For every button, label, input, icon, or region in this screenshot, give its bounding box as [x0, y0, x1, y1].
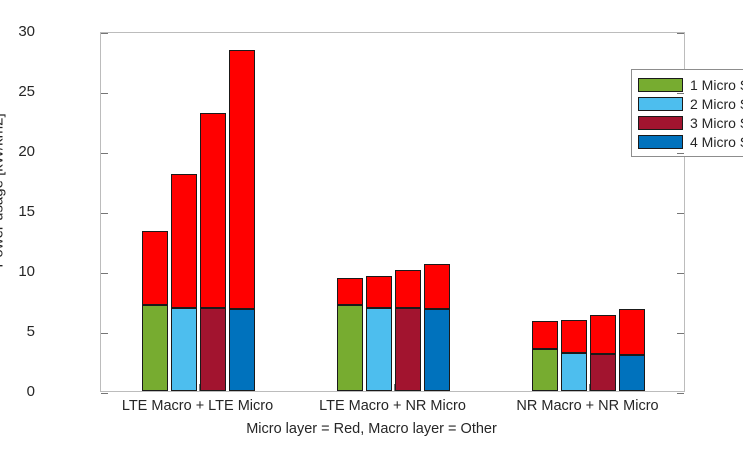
- y-axis-tick-right: [677, 33, 684, 34]
- bar-segment-micro[interactable]: [337, 278, 363, 304]
- bar-segment-micro[interactable]: [424, 264, 450, 310]
- legend-swatch-3: [638, 116, 683, 130]
- y-axis-tick-right: [677, 93, 684, 94]
- legend-item[interactable]: 3 Micro SU: [638, 113, 743, 132]
- legend-label-1: 1 Micro SU: [690, 78, 743, 92]
- bar-segment-micro[interactable]: [590, 315, 616, 353]
- bar-segment-macro[interactable]: [337, 305, 363, 391]
- y-axis-tick-label: 20: [0, 144, 35, 159]
- legend-swatch-1: [638, 78, 683, 92]
- bar-segment-micro[interactable]: [561, 320, 587, 352]
- bar-stack[interactable]: [142, 231, 168, 391]
- bar-segment-macro[interactable]: [590, 354, 616, 391]
- bar-stack[interactable]: [395, 270, 421, 391]
- y-axis-tick-right: [677, 393, 684, 394]
- y-axis-tick-label: 15: [0, 204, 35, 219]
- bar-segment-macro[interactable]: [532, 349, 558, 391]
- bar-segment-micro[interactable]: [142, 231, 168, 304]
- bar-stack[interactable]: [619, 309, 645, 391]
- y-axis-tick-right: [677, 333, 684, 334]
- y-axis-label: Power usage [kW/km2]: [0, 0, 7, 401]
- y-axis-tick-label: 25: [0, 84, 35, 99]
- legend-label-2: 2 Micro SU: [690, 97, 743, 111]
- chart-legend: 1 Micro SU 2 Micro SU 3 Micro SU 4 Micro…: [631, 69, 743, 157]
- y-axis-tick-label: 30: [0, 24, 35, 39]
- y-axis-tick: [101, 333, 108, 334]
- y-axis-tick: [101, 153, 108, 154]
- legend-label-3: 3 Micro SU: [690, 116, 743, 130]
- bar-segment-macro[interactable]: [171, 308, 197, 391]
- bar-segment-macro[interactable]: [561, 353, 587, 391]
- legend-swatch-2: [638, 97, 683, 111]
- bar-stack[interactable]: [229, 50, 255, 391]
- plot-area: 1 Micro SU 2 Micro SU 3 Micro SU 4 Micro…: [100, 32, 685, 392]
- bar-segment-micro[interactable]: [366, 276, 392, 308]
- bar-segment-micro[interactable]: [171, 174, 197, 308]
- bar-segment-macro[interactable]: [424, 309, 450, 391]
- bar-segment-macro[interactable]: [200, 308, 226, 391]
- legend-item[interactable]: 4 Micro SU: [638, 132, 743, 151]
- bar-segment-micro[interactable]: [200, 113, 226, 309]
- y-axis-tick-right: [677, 273, 684, 274]
- bar-segment-micro[interactable]: [532, 321, 558, 349]
- y-axis-tick-label: 10: [0, 264, 35, 279]
- y-axis-tick-label: 5: [0, 324, 35, 339]
- legend-item[interactable]: 1 Micro SU: [638, 75, 743, 94]
- bar-stack[interactable]: [561, 320, 587, 391]
- y-axis-tick: [101, 213, 108, 214]
- bar-stack[interactable]: [171, 174, 197, 391]
- x-axis-label: Micro layer = Red, Macro layer = Other: [0, 421, 743, 437]
- y-axis-tick-right: [677, 153, 684, 154]
- bar-stack[interactable]: [337, 278, 363, 391]
- y-axis-tick-right: [677, 213, 684, 214]
- x-axis-tick-label: NR Macro + NR Micro: [516, 398, 658, 414]
- bar-segment-macro[interactable]: [229, 309, 255, 391]
- bar-segment-macro[interactable]: [395, 308, 421, 391]
- y-axis-tick: [101, 393, 108, 394]
- y-axis-tick: [101, 93, 108, 94]
- y-axis-tick: [101, 273, 108, 274]
- bar-segment-macro[interactable]: [142, 305, 168, 391]
- legend-swatch-4: [638, 135, 683, 149]
- bar-segment-micro[interactable]: [395, 270, 421, 308]
- bar-stack[interactable]: [590, 315, 616, 391]
- y-axis-tick: [101, 33, 108, 34]
- bar-stack[interactable]: [532, 321, 558, 391]
- x-axis-tick-label: LTE Macro + NR Micro: [319, 398, 466, 414]
- legend-item[interactable]: 2 Micro SU: [638, 94, 743, 113]
- chart-figure: Power usage [kW/km2] 1 Micro SU 2 Micro …: [0, 0, 743, 454]
- x-axis-tick-label: LTE Macro + LTE Micro: [122, 398, 273, 414]
- bar-stack[interactable]: [366, 276, 392, 391]
- bar-stack[interactable]: [200, 113, 226, 391]
- bar-segment-micro[interactable]: [619, 309, 645, 355]
- legend-label-4: 4 Micro SU: [690, 135, 743, 149]
- y-axis-tick-label: 0: [0, 384, 35, 399]
- bar-segment-micro[interactable]: [229, 50, 255, 309]
- bar-segment-macro[interactable]: [366, 308, 392, 391]
- bar-stack[interactable]: [424, 264, 450, 391]
- bar-segment-macro[interactable]: [619, 355, 645, 391]
